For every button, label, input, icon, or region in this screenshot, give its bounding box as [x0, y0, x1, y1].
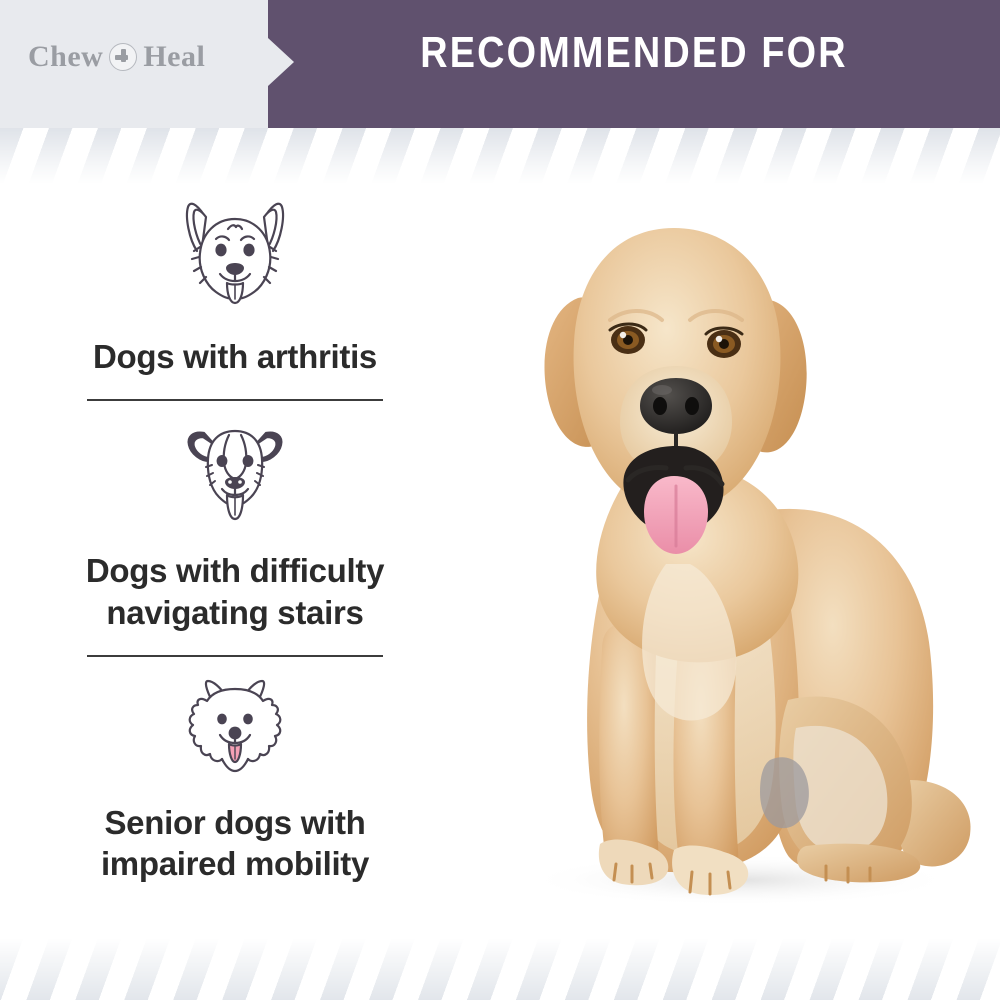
medical-cross-icon: [109, 43, 137, 71]
benefit-item-stairs: Dogs with difficulty navigating stairs: [0, 419, 470, 633]
logo-word-chew: Chew: [28, 42, 103, 72]
benefit-label: Dogs with difficulty navigating stairs: [35, 550, 435, 633]
diagonal-stripes-top: [0, 128, 1000, 184]
banner-panel: RECOMMENDED FOR: [268, 0, 1000, 128]
benefits-list: Dogs with arthritis: [0, 195, 470, 884]
yellow-labrador-retriever-sitting-photo: [470, 180, 1000, 920]
jack-russell-dog-face-icon: [179, 419, 291, 536]
recommended-for-infographic: Chew Heal RECOMMENDED FOR: [0, 0, 1000, 1000]
benefit-item-mobility: Senior dogs with impaired mobility: [0, 675, 470, 885]
chevron-notch-icon: [268, 38, 294, 86]
page-title: RECOMMENDED FOR: [319, 28, 949, 79]
corgi-dog-face-icon: [176, 195, 294, 322]
benefit-item-arthritis: Dogs with arthritis: [0, 195, 470, 377]
brand-logo: Chew Heal: [28, 42, 205, 72]
logo-word-heal: Heal: [143, 42, 205, 72]
benefit-divider: [87, 399, 383, 401]
benefit-divider: [87, 655, 383, 657]
diagonal-stripes-bottom: [0, 938, 1000, 1000]
benefit-label: Dogs with arthritis: [93, 336, 377, 377]
header-bar: Chew Heal RECOMMENDED FOR: [0, 0, 1000, 128]
benefit-label: Senior dogs with impaired mobility: [35, 802, 435, 885]
samoyed-dog-face-icon: [182, 675, 288, 788]
